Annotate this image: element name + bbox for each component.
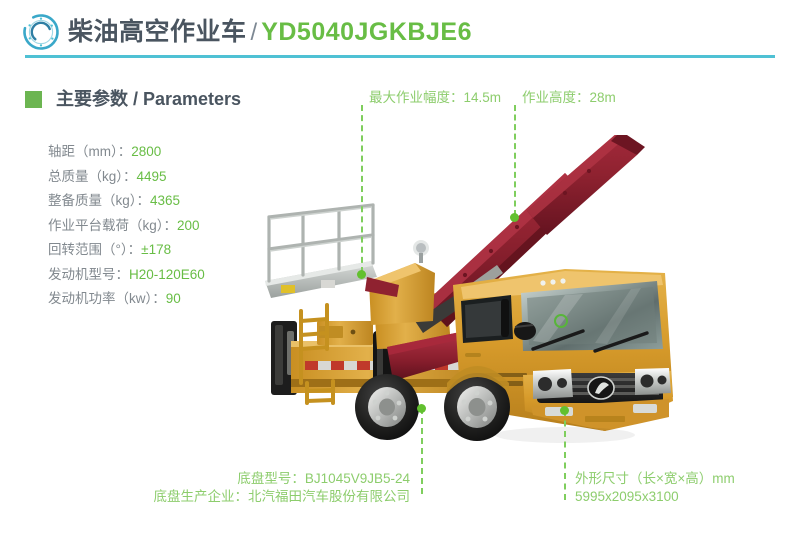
- parameter-label: 回转范围（°）：: [48, 242, 141, 257]
- parameters-heading: 主要参数 / Parameters: [24, 86, 324, 114]
- leader-dot-max-reach: [357, 270, 366, 279]
- aerial-work-platform-truck-image: [265, 135, 685, 450]
- parameter-label: 整备质量（kg）：: [48, 193, 150, 208]
- parameter-label: 总质量（kg）：: [48, 169, 137, 184]
- parameter-value: 4365: [150, 193, 180, 208]
- leader-dot-work-height: [510, 213, 519, 222]
- callout-dimensions: 外形尺寸（长×宽×高）mm 5995x2095x3100: [575, 470, 735, 506]
- page-title-separator: /: [247, 19, 262, 46]
- page-title-model: YD5040JGKBJE6: [261, 18, 472, 46]
- callout-chassis: 底盘型号：BJ1045V9JB5-24 底盘生产企业：北汽福田汽车股份有限公司: [125, 470, 410, 506]
- parameter-label: 发动机型号：: [48, 267, 129, 282]
- leader-line-max-reach: [361, 105, 363, 273]
- parameter-value: 2800: [131, 144, 161, 159]
- leader-line-dimensions: [564, 410, 566, 500]
- parameter-label: 作业平台载荷（kg）：: [48, 218, 177, 233]
- callout-chassis-model-text: 底盘型号：BJ1045V9JB5-24: [125, 470, 410, 488]
- page-title-cn: 柴油高空作业车: [68, 18, 247, 46]
- callout-work-height-text: 作业高度：28m: [522, 89, 616, 107]
- parameter-value: H20-120E60: [129, 267, 205, 282]
- parameter-value: 200: [177, 218, 200, 233]
- parameter-label: 发动机功率（kw）：: [48, 291, 166, 306]
- callout-dimensions-label-text: 外形尺寸（长×宽×高）mm: [575, 470, 735, 488]
- circular-ring-logo-icon: [22, 13, 60, 51]
- parameter-label: 轴距（mm）：: [48, 144, 131, 159]
- leader-dot-dimensions: [560, 406, 569, 415]
- leader-line-work-height: [514, 105, 516, 216]
- parameters-heading-text: 主要参数 / Parameters: [56, 86, 241, 112]
- green-square-marker-icon: [25, 91, 42, 108]
- header-divider: [25, 55, 775, 58]
- page-title: 柴油高空作业车/YD5040JGKBJE6: [68, 16, 472, 52]
- callout-max-reach: 最大作业幅度：14.5m: [369, 89, 501, 107]
- leader-dot-chassis: [417, 404, 426, 413]
- callout-work-height: 作业高度：28m: [522, 89, 616, 107]
- parameter-value: 4495: [137, 169, 167, 184]
- callout-max-reach-text: 最大作业幅度：14.5m: [369, 89, 501, 107]
- parameters-panel: 主要参数 / Parameters 轴距（mm）：2800 总质量（kg）：44…: [24, 86, 324, 114]
- page-header: 柴油高空作业车/YD5040JGKBJE6: [0, 0, 801, 60]
- callout-dimensions-value-text: 5995x2095x3100: [575, 488, 735, 506]
- parameter-value: 90: [166, 291, 181, 306]
- leader-line-chassis: [421, 408, 423, 494]
- callout-chassis-maker-text: 底盘生产企业：北汽福田汽车股份有限公司: [125, 488, 410, 506]
- parameter-value: ±178: [141, 242, 171, 257]
